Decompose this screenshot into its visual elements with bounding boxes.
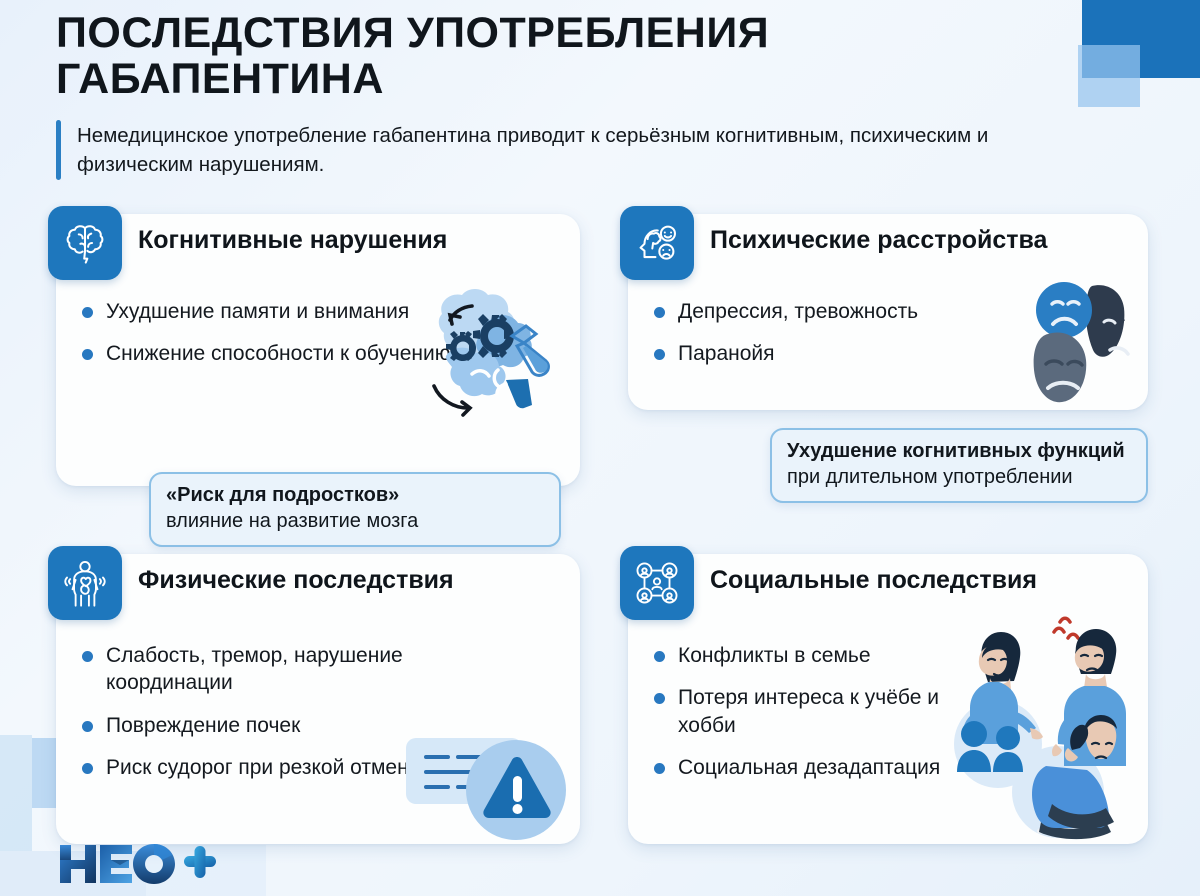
page-subtitle: Немедицинское употребление габапентина п… <box>77 120 1007 180</box>
callout-teens-bold: «Риск для подростков» <box>166 484 399 506</box>
callout-teens: «Риск для подростков» влияние на развити… <box>149 472 561 547</box>
bullet-text: Снижение способности к обучению <box>106 340 450 367</box>
callout-teens-rest: влияние на развитие мозга <box>166 510 418 532</box>
list-item: Риск судорог при резкой отмене <box>82 754 470 781</box>
bullet-dot-icon <box>82 307 93 318</box>
card-mental: Психические расстройства Депрессия, трев… <box>628 214 1148 410</box>
header: ПОСЛЕДСТВИЯ УПОТРЕБЛЕНИЯ ГАБАПЕНТИНА Нем… <box>56 10 1036 180</box>
bullet-text: Социальная дезадаптация <box>678 754 940 781</box>
card-social: Социальные последствия Конфликты в семье… <box>628 554 1148 844</box>
bullet-text: Потеря интереса к учёбе и хобби <box>678 684 976 739</box>
card-physical: Физические последствия Слабость, тремор,… <box>56 554 580 844</box>
bullet-text: Паранойя <box>678 340 775 367</box>
bullet-text: Повреждение почек <box>106 712 300 739</box>
card-title-physical: Физические последствия <box>138 566 454 595</box>
card-title-social: Социальные последствия <box>710 566 1037 595</box>
bullet-text: Слабость, тремор, нарушение координации <box>106 642 470 697</box>
bullet-list-mental: Депрессия, тревожность Паранойя <box>654 298 1018 368</box>
bullet-list-cognitive: Ухудшение памяти и внимания Снижение спо… <box>82 298 459 368</box>
list-item: Ухудшение памяти и внимания <box>82 298 459 325</box>
bullet-text: Конфликты в семье <box>678 642 871 669</box>
bullet-dot-icon <box>82 349 93 360</box>
body-organs-icon <box>48 546 122 620</box>
decor-square-top-right-dark <box>1082 0 1200 78</box>
neo-plus-logo <box>58 842 218 886</box>
callout-teens-text: «Риск для подростков» влияние на развити… <box>166 483 544 534</box>
people-network-icon <box>620 546 694 620</box>
callout-longterm: Ухудшение когнитивных функций при длител… <box>770 428 1148 503</box>
list-item: Потеря интереса к учёбе и хобби <box>654 684 976 739</box>
bullet-dot-icon <box>654 651 665 662</box>
head-faces-icon <box>620 206 694 280</box>
subtitle-block: Немедицинское употребление габапентина п… <box>56 120 1036 180</box>
callout-longterm-rest: при длительном употреблении <box>787 466 1073 488</box>
bullet-dot-icon <box>654 349 665 360</box>
list-item: Депрессия, тревожность <box>654 298 1018 325</box>
card-cognitive: Когнитивные нарушения Ухудшение памяти и… <box>56 214 580 486</box>
bullet-dot-icon <box>654 307 665 318</box>
callout-longterm-bold: Ухудшение когнитивных функций <box>787 440 1125 462</box>
page-title: ПОСЛЕДСТВИЯ УПОТРЕБЛЕНИЯ ГАБАПЕНТИНА <box>56 10 1036 103</box>
brain-icon <box>48 206 122 280</box>
list-item: Социальная дезадаптация <box>654 754 976 781</box>
bullet-text: Депрессия, тревожность <box>678 298 918 325</box>
cards-grid: Когнитивные нарушения Ухудшение памяти и… <box>0 200 1200 860</box>
card-title-mental: Психические расстройства <box>710 226 1047 255</box>
list-item: Слабость, тремор, нарушение координации <box>82 642 470 697</box>
list-item: Повреждение почек <box>82 712 470 739</box>
bullet-dot-icon <box>82 763 93 774</box>
bullet-dot-icon <box>654 763 665 774</box>
list-item: Паранойя <box>654 340 1018 367</box>
card-title-cognitive: Когнитивные нарушения <box>138 226 447 255</box>
bullet-dot-icon <box>82 651 93 662</box>
bullet-dot-icon <box>654 693 665 704</box>
subtitle-accent-bar <box>56 120 61 180</box>
callout-longterm-text: Ухудшение когнитивных функций при длител… <box>787 439 1131 490</box>
bullet-list-social: Конфликты в семье Потеря интереса к учёб… <box>654 642 976 781</box>
bullet-list-physical: Слабость, тремор, нарушение координации … <box>82 642 470 781</box>
bullet-text: Ухудшение памяти и внимания <box>106 298 409 325</box>
neo-plus-logo-mark <box>58 842 218 886</box>
list-item: Конфликты в семье <box>654 642 976 669</box>
decor-square-top-right-light <box>1078 45 1140 107</box>
list-item: Снижение способности к обучению <box>82 340 459 367</box>
bullet-text: Риск судорог при резкой отмене <box>106 754 420 781</box>
bullet-dot-icon <box>82 721 93 732</box>
sad-masks-illustration <box>996 276 1146 404</box>
